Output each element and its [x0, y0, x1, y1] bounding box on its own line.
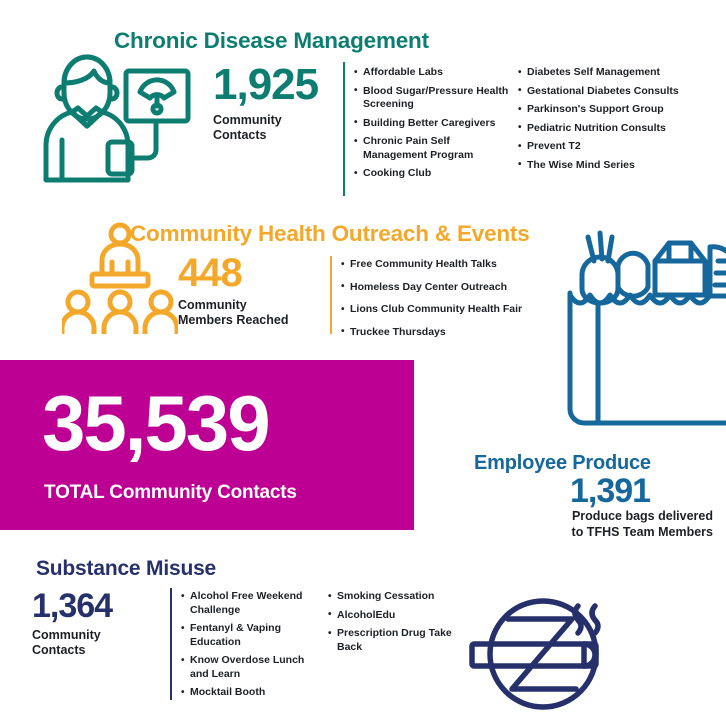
- list-item: Building Better Caregivers: [354, 117, 514, 131]
- list-item: Parkinson's Support Group: [518, 103, 718, 117]
- audience-presentation-icon: [62, 222, 178, 339]
- chronic-program-list-left: Affordable Labs Blood Sugar/Pressure Hea…: [354, 66, 514, 186]
- substance-program-list-left: Alcohol Free Weekend Challenge Fentanyl …: [181, 590, 316, 705]
- list-item: Fentanyl & Vaping Education: [181, 622, 316, 649]
- list-item: Lions Club Community Health Fair: [341, 303, 571, 317]
- outreach-stat-label-line1: Community: [178, 298, 288, 313]
- list-item: Diabetes Self Management: [518, 66, 718, 80]
- patient-blood-pressure-icon: [34, 50, 194, 200]
- list-item: The Wise Mind Series: [518, 159, 718, 173]
- employee-produce-subtext-line1: Produce bags delivered: [513, 508, 713, 524]
- list-item: Free Community Health Talks: [341, 258, 571, 272]
- outreach-stat: 448 Community Members Reached: [178, 253, 288, 328]
- chronic-stat-label-line2: Contacts: [213, 128, 318, 143]
- chronic-disease-stat: 1,925 Community Contacts: [213, 63, 318, 143]
- employee-produce-subtext-line2: to TFHS Team Members: [513, 524, 713, 540]
- outreach-divider: [330, 256, 332, 334]
- outreach-stat-label-line2: Members Reached: [178, 313, 288, 328]
- total-community-contacts-panel: 35,539 TOTAL Community Contacts: [0, 360, 414, 530]
- chronic-stat-label-line1: Community: [213, 113, 318, 128]
- list-item: Cooking Club: [354, 167, 514, 181]
- outreach-stat-number: 448: [178, 253, 288, 293]
- list-item: Prevent T2: [518, 140, 718, 154]
- list-item: Alcohol Free Weekend Challenge: [181, 590, 316, 617]
- employee-produce-subtext: Produce bags delivered to TFHS Team Memb…: [513, 508, 713, 540]
- substance-program-list-right: Smoking Cessation AlcoholEdu Prescriptio…: [328, 590, 453, 659]
- list-item: Prescription Drug Take Back: [328, 627, 453, 654]
- list-item: Affordable Labs: [354, 66, 514, 80]
- chronic-stat-number: 1,925: [213, 63, 318, 107]
- substance-divider: [170, 588, 172, 700]
- total-number: 35,539: [42, 384, 269, 462]
- list-item: Smoking Cessation: [328, 590, 453, 604]
- substance-misuse-stat: 1,364 Community Contacts: [32, 589, 112, 658]
- no-smoking-icon: [466, 588, 641, 726]
- chronic-program-list-right: Diabetes Self Management Gestational Dia…: [518, 66, 718, 177]
- substance-stat-label-line2: Contacts: [32, 643, 112, 658]
- employee-produce-number: 1,391: [570, 474, 650, 508]
- substance-stat-number: 1,364: [32, 589, 112, 623]
- chronic-divider: [343, 62, 345, 196]
- outreach-section-title: Community Health Outreach & Events: [130, 221, 530, 247]
- list-item: Pediatric Nutrition Consults: [518, 122, 718, 136]
- substance-stat-label-line1: Community: [32, 628, 112, 643]
- total-label: TOTAL Community Contacts: [44, 482, 297, 504]
- list-item: Blood Sugar/Pressure Health Screening: [354, 85, 514, 112]
- grocery-bag-produce-icon: [560, 225, 726, 445]
- list-item: Know Overdose Lunch and Learn: [181, 654, 316, 681]
- list-item: AlcoholEdu: [328, 609, 453, 623]
- substance-misuse-section-title: Substance Misuse: [36, 557, 216, 581]
- list-item: Chronic Pain Self Management Program: [354, 135, 514, 162]
- list-item: Gestational Diabetes Consults: [518, 85, 718, 99]
- list-item: Mocktail Booth: [181, 686, 316, 700]
- list-item: Truckee Thursdays: [341, 326, 571, 340]
- list-item: Homeless Day Center Outreach: [341, 281, 571, 295]
- outreach-program-list: Free Community Health Talks Homeless Day…: [341, 258, 571, 348]
